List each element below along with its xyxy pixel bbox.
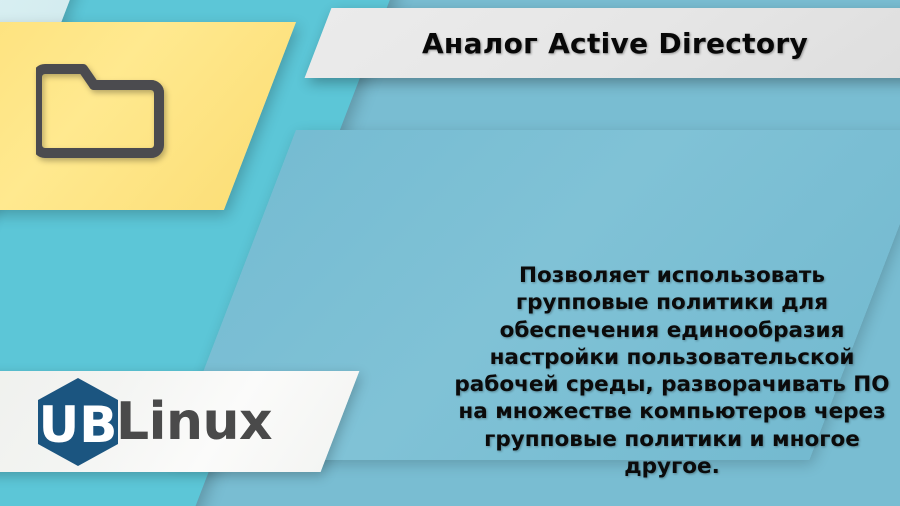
logo: UB Linux [34,376,272,468]
folder-icon [36,55,164,160]
hexagon-badge-icon: UB [34,376,122,468]
page-title: Аналог Active Directory [330,8,900,78]
body-paragraph: Позволяет использовать групповые политик… [452,262,892,480]
presentation-slide: Аналог Active Directory Позволяет исполь… [0,0,900,506]
logo-wordmark: Linux [116,396,272,448]
logo-badge-text: UB [39,396,118,454]
